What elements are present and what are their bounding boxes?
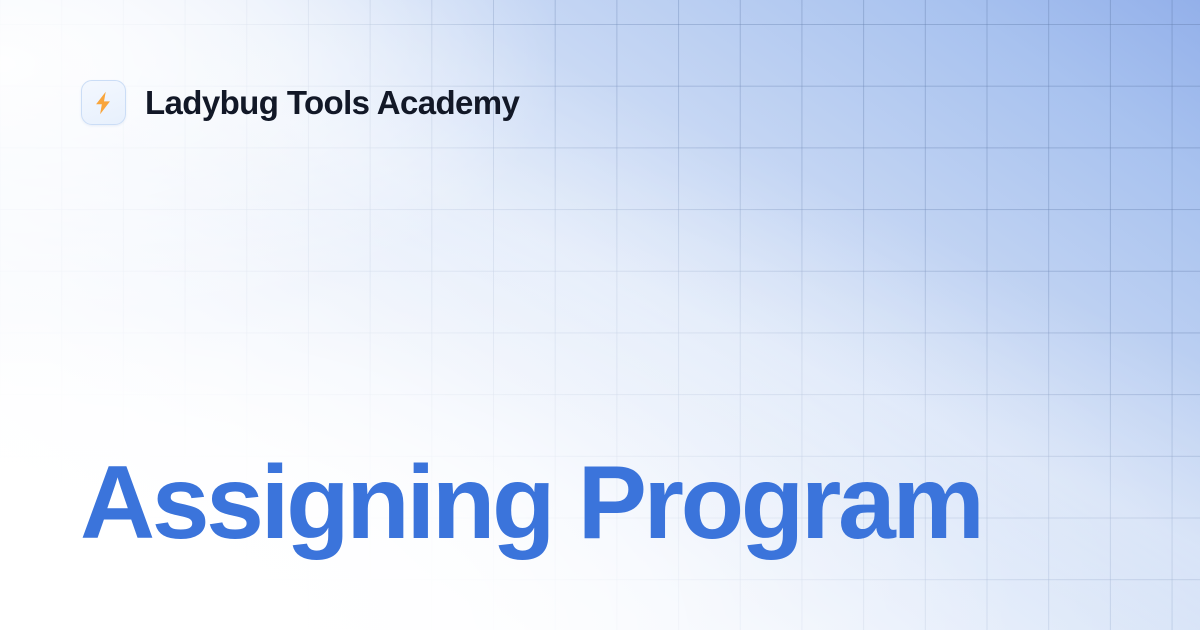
- card-content: Ladybug Tools Academy Assigning Program: [0, 0, 1200, 630]
- page-title: Assigning Program: [80, 448, 1120, 558]
- social-share-card: Ladybug Tools Academy Assigning Program: [0, 0, 1200, 630]
- brand-lockup: Ladybug Tools Academy: [81, 80, 519, 125]
- brand-name-label: Ladybug Tools Academy: [145, 86, 519, 119]
- high-voltage-bolt-icon: [81, 80, 126, 125]
